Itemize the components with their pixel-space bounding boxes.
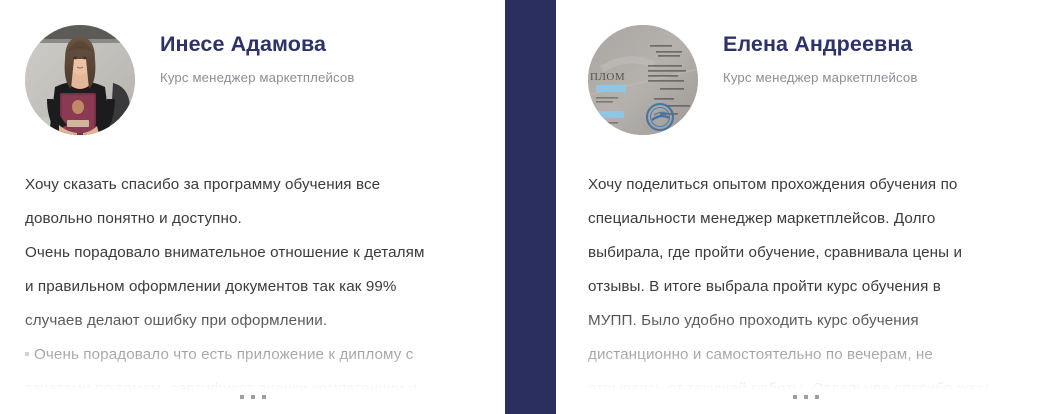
- testimonial-line: дистанционно и самостоятельно по вечерам…: [588, 338, 1044, 372]
- testimonial-line: и правильном оформлении документов так к…: [25, 270, 477, 304]
- person-name: Елена Андреевна: [723, 33, 918, 57]
- testimonial-line: Очень порадовало внимательное отношение …: [25, 236, 477, 270]
- testimonial-line: отзывы. В итоге выбрала пройти курс обуч…: [588, 270, 1044, 304]
- avatar: ПЛОМ: [588, 25, 698, 135]
- ellipsis-dot-icon: [815, 395, 819, 399]
- ellipsis-dot-icon: [240, 395, 244, 399]
- testimonial-line: отрываясь от текущей работы. Отдельное с…: [588, 372, 1044, 390]
- person-name: Инесе Адамова: [160, 33, 355, 57]
- person-role: Курс менеджер маркетплейсов: [160, 70, 355, 85]
- avatar-photo-icon: [25, 25, 135, 135]
- testimonial-line: специальности менеджер маркетплейсов. До…: [588, 202, 1044, 236]
- ellipsis-dot-icon: [251, 395, 255, 399]
- testimonial-card-1: Инесе Адамова Курс менеджер маркетплейсо…: [0, 0, 505, 414]
- testimonial-line: случаев делают ошибку при оформлении.: [25, 304, 477, 338]
- testimonials-section: Инесе Адамова Курс менеджер маркетплейсо…: [0, 0, 1056, 414]
- testimonial-line: Хочу сказать спасибо за программу обучен…: [25, 168, 477, 202]
- vertical-divider: [505, 0, 556, 414]
- ellipsis-dot-icon: [804, 395, 808, 399]
- testimonial-header-2: ПЛОМ: [588, 25, 918, 135]
- testimonial-identity-2: Елена Андреевна Курс менеджер маркетплей…: [723, 25, 918, 85]
- testimonial-line: Очень порадовало что есть приложение к д…: [25, 338, 477, 372]
- read-more-ellipsis[interactable]: [556, 395, 1056, 399]
- ellipsis-dot-icon: [793, 395, 797, 399]
- avatar-photo-icon: ПЛОМ: [588, 25, 698, 135]
- testimonial-line: Хочу поделиться опытом прохождения обуче…: [588, 168, 1044, 202]
- person-role: Курс менеджер маркетплейсов: [723, 70, 918, 85]
- square-bullet-icon: [25, 352, 29, 356]
- read-more-ellipsis[interactable]: [0, 395, 505, 399]
- testimonial-identity-1: Инесе Адамова Курс менеджер маркетплейсо…: [160, 25, 355, 85]
- testimonial-line: довольно понятно и доступно.: [25, 202, 477, 236]
- testimonial-line: зачетами по темам, сертификат оценки ком…: [25, 372, 477, 390]
- avatar: [25, 25, 135, 135]
- testimonial-card-2: ПЛОМ: [556, 0, 1056, 414]
- testimonial-line: выбирала, где пройти обучение, сравнивал…: [588, 236, 1044, 270]
- testimonial-header-1: Инесе Адамова Курс менеджер маркетплейсо…: [25, 25, 355, 135]
- testimonial-body-1: Хочу сказать спасибо за программу обучен…: [25, 168, 477, 390]
- testimonial-body-2: Хочу поделиться опытом прохождения обуче…: [588, 168, 1044, 390]
- svg-text:ПЛОМ: ПЛОМ: [590, 71, 625, 83]
- testimonial-line: МУПП. Было удобно проходить курс обучени…: [588, 304, 1044, 338]
- ellipsis-dot-icon: [262, 395, 266, 399]
